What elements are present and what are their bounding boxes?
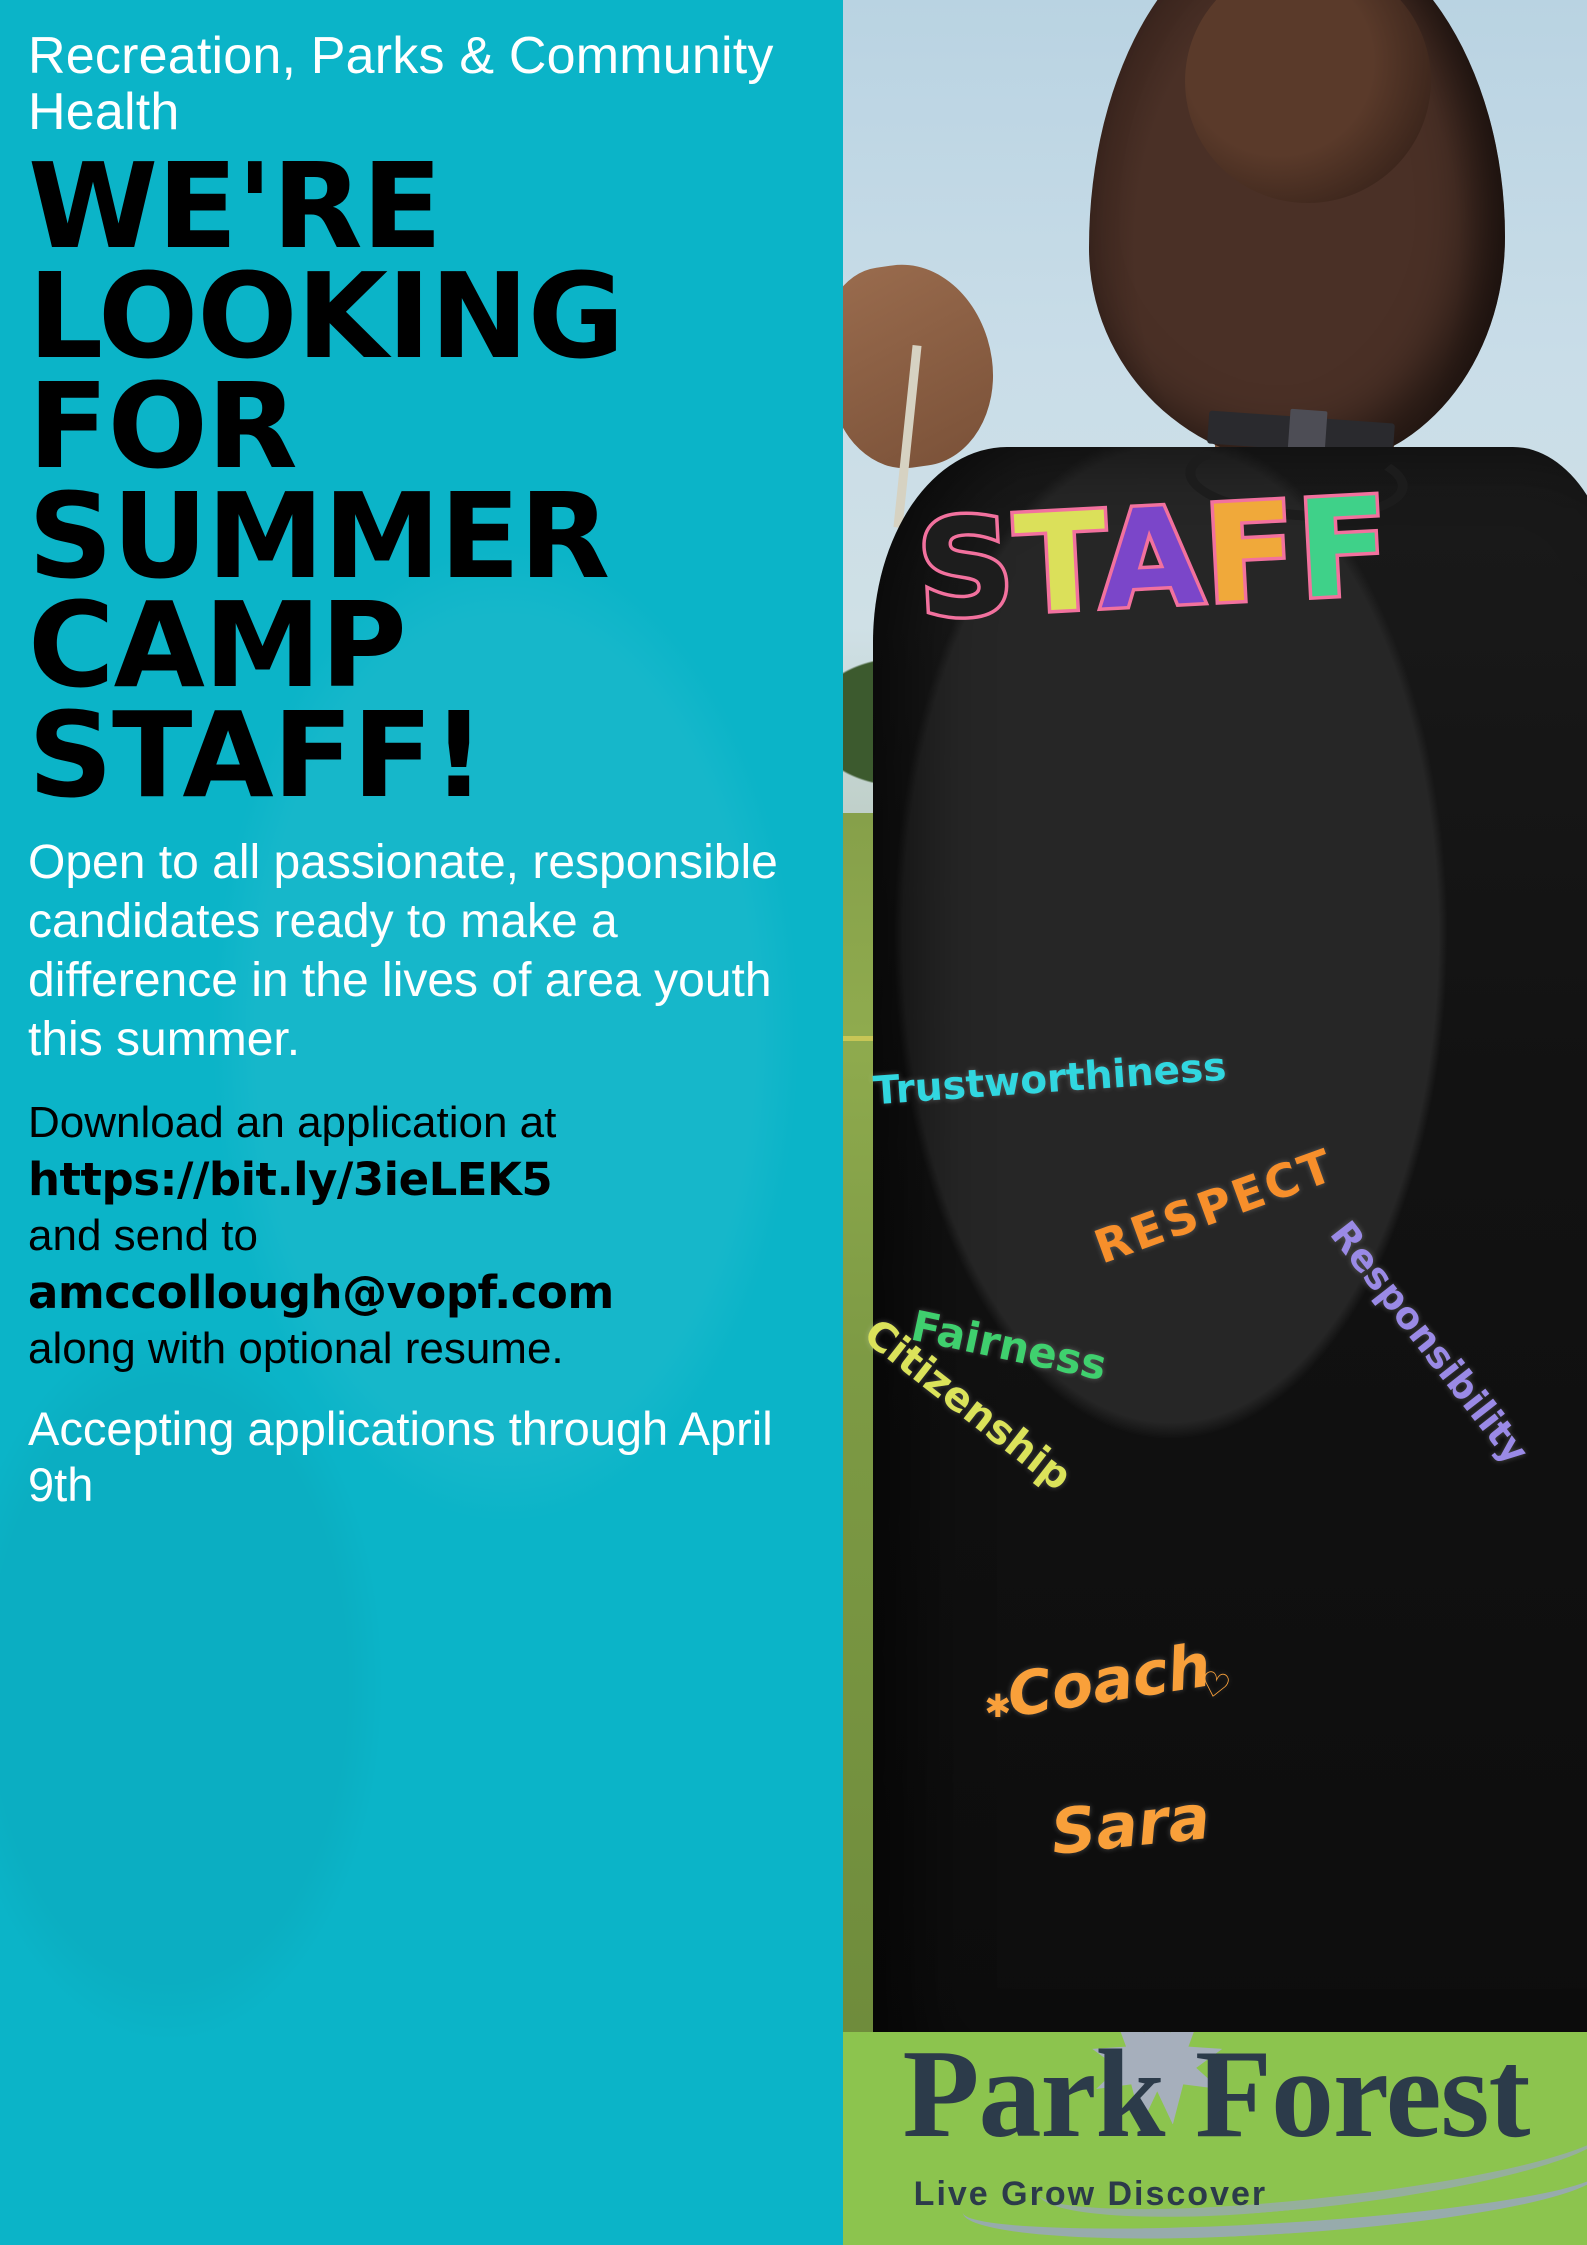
send-instruction: and send to — [28, 1211, 258, 1260]
black-tshirt — [873, 447, 1587, 2032]
application-deadline: Accepting applications through April 9th — [28, 1401, 811, 1514]
how-to-apply: Download an application at https://bit.l… — [28, 1095, 811, 1377]
download-instruction: Download an application at — [28, 1098, 556, 1147]
logo-name: Park Forest — [903, 2032, 1530, 2167]
application-url[interactable]: https://bit.ly/3ieLEK5 — [28, 1151, 811, 1208]
page-title: WE'RE LOOKING FOR SUMMER CAMP STAFF! — [28, 152, 811, 810]
department-name: Recreation, Parks & Community Health — [28, 28, 811, 140]
contact-email[interactable]: amccollough@vopf.com — [28, 1264, 811, 1321]
staff-photo: STAFF Trustworthiness RESPECT Fairness C… — [843, 0, 1587, 2032]
resume-note: along with optional resume. — [28, 1324, 564, 1373]
description-text: Open to all passionate, responsible cand… — [28, 833, 811, 1069]
logo-wordmark: Park Forest Live Grow Discover — [843, 2032, 1587, 2245]
logo-tagline: Live Grow Discover — [914, 2175, 1267, 2214]
info-panel: Recreation, Parks & Community Health WE'… — [0, 0, 843, 2245]
sparkle-icon: ✱ — [984, 1687, 1011, 1725]
park-forest-logo-band: Park Forest Live Grow Discover — [843, 2032, 1587, 2245]
poster-root: STAFF Trustworthiness RESPECT Fairness C… — [0, 0, 1587, 2245]
